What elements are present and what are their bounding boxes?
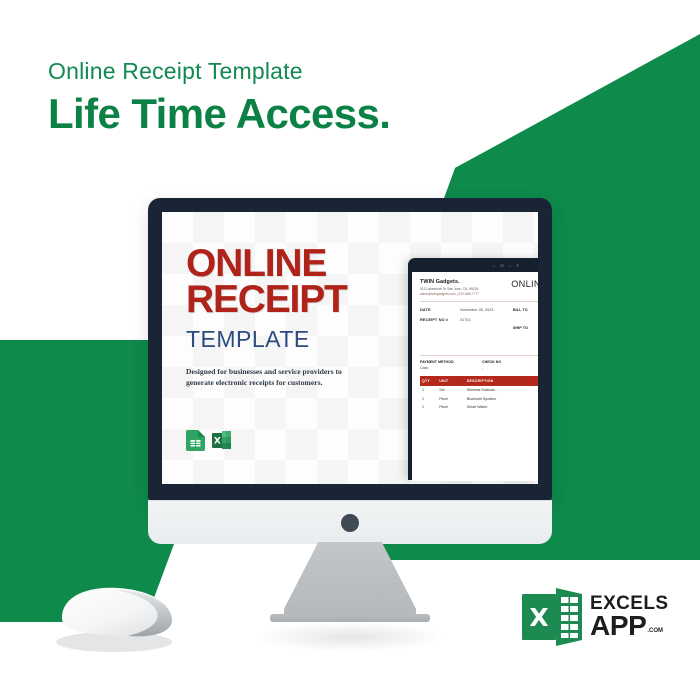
brand-app-text: APP: [590, 613, 646, 639]
table-body: 1 Set Wireless Earbuds $ 49.99 $ 49.99 1…: [420, 386, 538, 412]
receipt-company-block: TWIN Gadgets. 912 Lakeshore Dr San Jose,…: [420, 279, 479, 296]
poster-canvas: Online Receipt Template Life Time Access…: [0, 0, 700, 700]
sensor-dot: [493, 265, 495, 267]
meta-value: November 28, 2023: [460, 308, 493, 312]
table-row: 1 Set Wireless Earbuds $ 49.99 $ 49.99: [420, 386, 538, 395]
meta-row-receipt-no: RECEIPT NO # 01701: [420, 318, 499, 322]
table-row: 1 Piece Bluetooth Speaker $ 79.99 $ 79.9…: [420, 394, 538, 403]
slide-description: Designed for businesses and service prov…: [186, 366, 354, 388]
headline-block: Online Receipt Template Life Time Access…: [48, 58, 390, 137]
receipt-meta-column: DATE November 28, 2023 RECEIPT NO # 0170…: [420, 308, 499, 351]
camera-dot: [500, 264, 504, 268]
slide-left-content: ONLINE RECEIPT TEMPLATE Designed for bus…: [186, 246, 396, 451]
cell-qty: 1: [420, 386, 437, 395]
company-name: TWIN Gadgets.: [420, 279, 479, 285]
monitor-bezel: ONLINE RECEIPT TEMPLATE Designed for bus…: [148, 198, 552, 500]
cell-qty: 1: [420, 394, 437, 403]
payment-method-value: Cash: [420, 366, 482, 370]
cell-qty: 1: [420, 403, 437, 412]
bill-to-label: BILL TO: [513, 308, 538, 320]
receipt-doc-title: ONLINE RECEIPT: [511, 279, 538, 289]
check-no-value: -: [482, 366, 483, 370]
cell-description: Smart Watch: [465, 403, 527, 412]
tablet-camera-bar: [412, 262, 538, 269]
check-no-label: CHECK NO: [482, 360, 501, 364]
microsoft-excel-icon[interactable]: X: [212, 430, 231, 451]
table-head: QTY UNIT DESCRIPTION PRICE AMOUNT: [420, 376, 538, 385]
cell-description: Bluetooth Speaker: [465, 394, 527, 403]
sensor-dot: [509, 265, 511, 267]
slide-subtitle: TEMPLATE: [186, 326, 396, 353]
slide-app-icons: X: [186, 430, 396, 451]
meta-key: RECEIPT NO #: [420, 318, 460, 322]
meta-key: DATE: [420, 308, 460, 312]
cell-description: Wireless Earbuds: [465, 386, 527, 395]
monitor-chin: [148, 500, 552, 544]
monitor-shadow: [255, 622, 445, 652]
tablet-device: TWIN Gadgets. 912 Lakeshore Dr San Jose,…: [408, 258, 538, 480]
monitor-screen: ONLINE RECEIPT TEMPLATE Designed for bus…: [162, 212, 538, 484]
company-address: 912 Lakeshore Dr San Jose, CA, 95126: [420, 287, 479, 291]
meta-value: 01701: [460, 318, 471, 322]
payment-values: Cash -: [420, 366, 538, 370]
desktop-monitor: ONLINE RECEIPT TEMPLATE Designed for bus…: [148, 198, 552, 544]
speaker-dot: [516, 264, 520, 268]
eyebrow-text: Online Receipt Template: [48, 58, 390, 86]
brand-dotcom-text: .COM: [647, 629, 663, 635]
google-sheets-icon[interactable]: [186, 430, 205, 451]
col-description: DESCRIPTION: [465, 376, 527, 385]
cell-price: $ 199.99: [527, 403, 538, 412]
company-contact: sales@twingadgets.com | 220-888-7777: [420, 292, 479, 296]
ship-to-label: SHIP TO: [513, 326, 538, 345]
svg-text:X: X: [214, 436, 221, 446]
cell-price: $ 79.99: [527, 394, 538, 403]
bill-to-block: BILL TO Name Emmet Cruz Phone: [513, 308, 538, 320]
excelsapp-logo[interactable]: X EXCELS APP .COM: [522, 588, 668, 646]
col-qty: QTY: [420, 376, 437, 385]
brand-wordmark: EXCELS APP .COM: [590, 595, 668, 638]
table-row: 1 Piece Smart Watch $ 199.99 $ 199.99: [420, 403, 538, 412]
payment-method-label: PAYMENT METHOD: [420, 360, 482, 364]
power-button[interactable]: [341, 514, 359, 532]
cell-unit: Piece: [437, 403, 465, 412]
receipt-header: TWIN Gadgets. 912 Lakeshore Dr San Jose,…: [420, 279, 538, 296]
slide-title-line-1: ONLINE: [186, 246, 396, 282]
divider: [420, 355, 538, 356]
payment-headers: PAYMENT METHOD CHECK NO: [420, 360, 538, 364]
table-header-row: QTY UNIT DESCRIPTION PRICE AMOUNT: [420, 376, 538, 385]
receipt-meta-section: DATE November 28, 2023 RECEIPT NO # 0170…: [420, 308, 538, 351]
excel-x-icon: X: [522, 588, 582, 646]
cell-unit: Set: [437, 386, 465, 395]
online-receipt-document: TWIN Gadgets. 912 Lakeshore Dr San Jose,…: [412, 272, 538, 481]
svg-text:X: X: [529, 603, 548, 632]
ship-to-block: SHIP TO Name Kitty Lau Phone 2: [513, 326, 538, 345]
meta-row-date: DATE November 28, 2023: [420, 308, 499, 312]
cell-price: $ 49.99: [527, 386, 538, 395]
cell-unit: Piece: [437, 394, 465, 403]
brand-app-row: APP .COM: [590, 613, 668, 639]
col-unit: UNIT: [437, 376, 465, 385]
line-items-table: QTY UNIT DESCRIPTION PRICE AMOUNT 1: [420, 376, 538, 412]
monitor-stand-foot: [270, 614, 430, 622]
computer-mouse: [48, 578, 178, 656]
page-title: Life Time Access.: [48, 90, 390, 137]
col-price: PRICE: [527, 376, 538, 385]
slide-title-line-2: RECEIPT: [186, 282, 396, 318]
receipt-parties-column: BILL TO Name Emmet Cruz Phone: [513, 308, 538, 351]
divider: [420, 301, 538, 302]
